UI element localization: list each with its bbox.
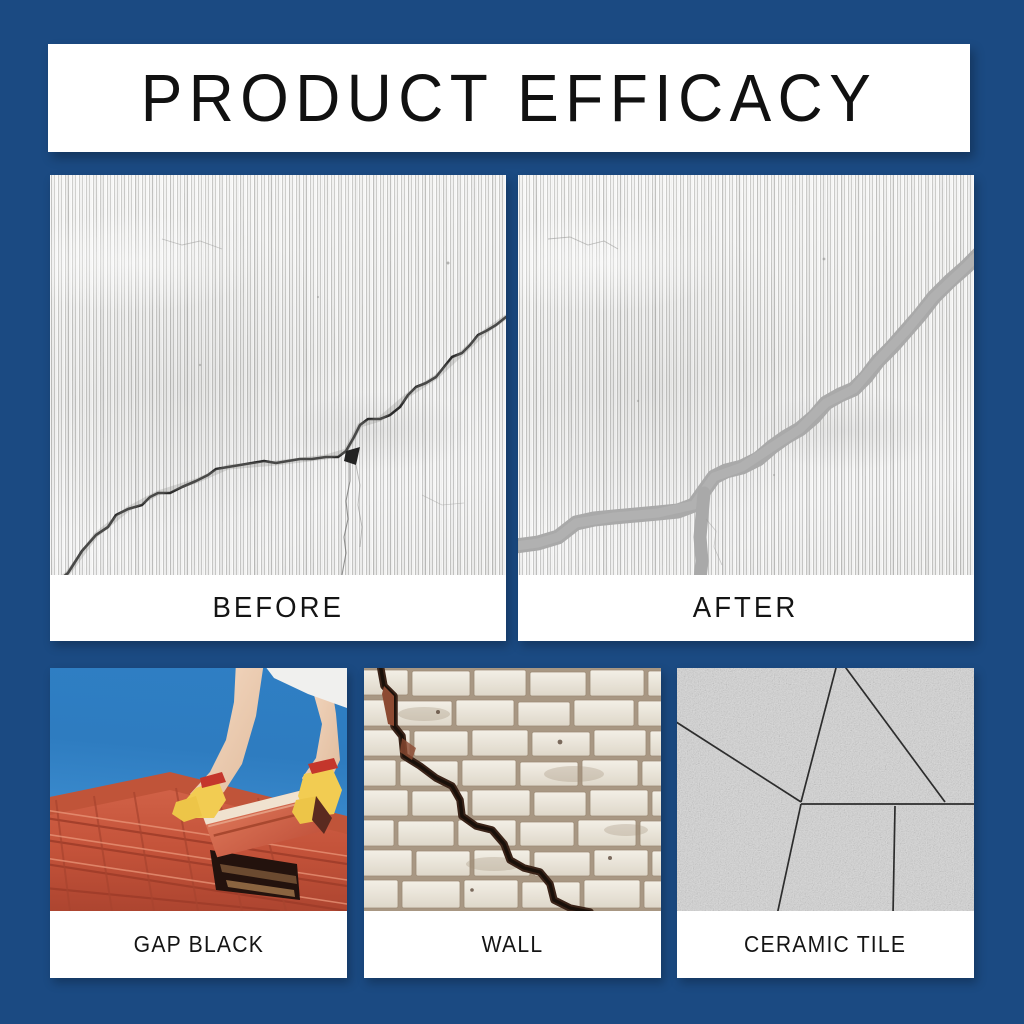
roof-scene (50, 668, 347, 911)
ceramic-tile-caption-bar: CERAMIC TILE (677, 911, 974, 978)
crack-overlay (50, 175, 506, 575)
before-panel: BEFORE (50, 175, 506, 641)
gap-black-panel: GAP BLACK (50, 668, 347, 978)
product-efficacy-poster: PRODUCT EFFICACY (0, 0, 1024, 1024)
granite-tile-grout-photo (677, 668, 974, 911)
title-banner: PRODUCT EFFICACY (48, 44, 970, 152)
after-label: AFTER (693, 592, 799, 625)
ceramic-tile-label: CERAMIC TILE (744, 931, 906, 958)
before-label: BEFORE (212, 592, 344, 625)
gap-black-label: GAP BLACK (133, 931, 263, 958)
page-title: PRODUCT EFFICACY (141, 60, 878, 137)
after-panel: AFTER (518, 175, 974, 641)
gap-black-caption-bar: GAP BLACK (50, 911, 347, 978)
brick-pattern (364, 668, 661, 911)
wall-label: WALL (482, 931, 544, 958)
ceramic-tile-panel: CERAMIC TILE (677, 668, 974, 978)
after-caption-bar: AFTER (518, 575, 974, 641)
sealant-overlay (518, 175, 974, 575)
wall-caption-bar: WALL (364, 911, 661, 978)
cracked-concrete-wall-photo (50, 175, 506, 575)
wall-panel: WALL (364, 668, 661, 978)
cracked-brick-wall-photo (364, 668, 661, 911)
sealed-concrete-wall-photo (518, 175, 974, 575)
tile-layout (677, 668, 974, 911)
roof-tile-repair-photo (50, 668, 347, 911)
before-caption-bar: BEFORE (50, 575, 506, 641)
